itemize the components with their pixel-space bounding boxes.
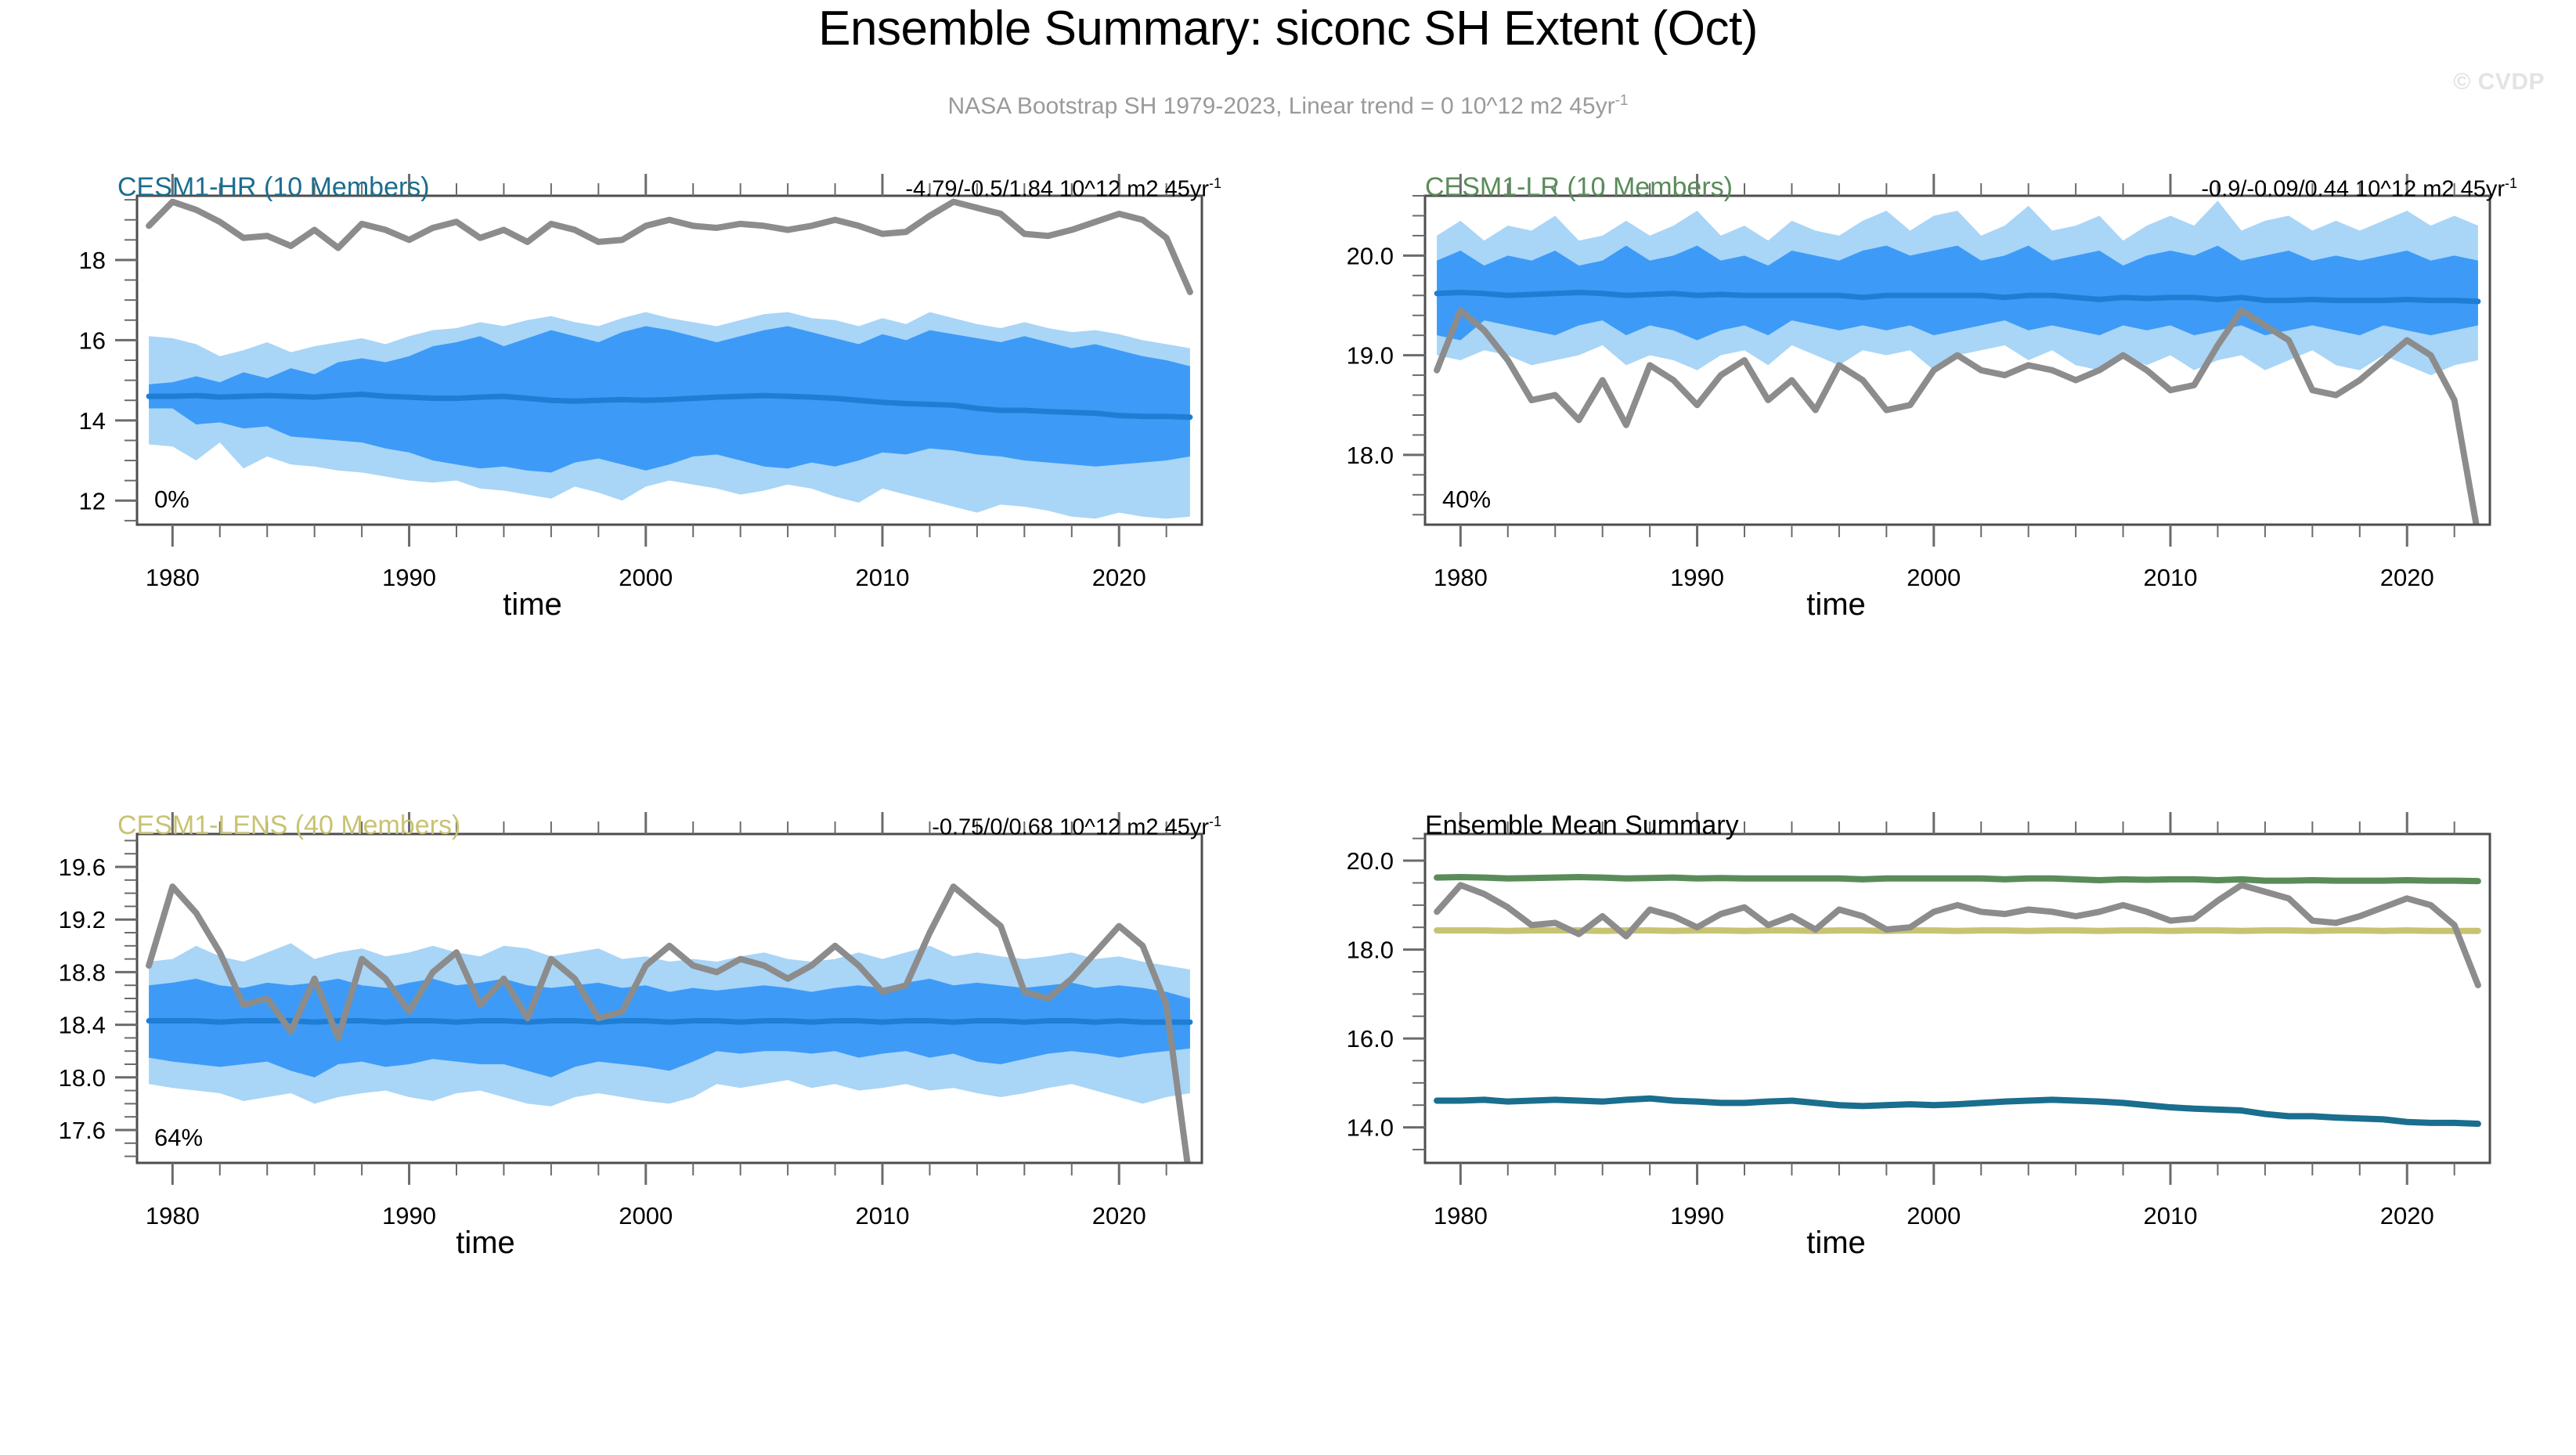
xtick-label: 2010: [2144, 1202, 2198, 1229]
xtick-label: 1980: [1434, 564, 1488, 591]
ensemble-mean-line: [149, 1021, 1190, 1023]
xtick-label: 1980: [146, 1202, 200, 1229]
summary-line-cesm1-hr: [1437, 1099, 2478, 1124]
ytick-label: 16.0: [1347, 1025, 1394, 1052]
panel-cesm1-hr: CESM1-HR (10 Members) -4.79/-0.5/1.84 10…: [0, 172, 1253, 658]
panel-stat-text: -0.75/0/0.68 10^12 m2 45yr: [932, 815, 1209, 840]
ytick-label: 20.0: [1347, 847, 1394, 875]
xtick-label: 2010: [856, 1202, 910, 1229]
panel-stat-text: -4.79/-0.5/1.84 10^12 m2 45yr: [905, 177, 1209, 202]
band-group: [149, 312, 1190, 519]
cvdp-watermark: © CVDP: [2453, 69, 2545, 96]
panel-ensemble-mean-summary: Ensemble Mean Summary 14.016.018.020.019…: [1288, 811, 2541, 1296]
xaxis-label-cesm1-hr: time: [376, 587, 689, 623]
band-group: [1437, 200, 2478, 375]
ytick-label: 18.0: [59, 1064, 106, 1092]
xtick-label: 2020: [1092, 564, 1146, 591]
plot-cesm1-lens: 17.618.018.418.819.219.61980199020002010…: [0, 811, 1253, 1296]
panel-cesm1-lr: CESM1-LR (10 Members) -0.9/-0.09/0.44 10…: [1288, 172, 2541, 658]
panel-stat-cesm1-lr: -0.9/-0.09/0.44 10^12 m2 45yr-1: [2071, 175, 2517, 203]
ytick-label: 18.0: [1347, 937, 1394, 964]
panel-title-cesm1-lr: CESM1-LR (10 Members): [1425, 172, 1733, 203]
panel-stat-exponent: -1: [1209, 175, 1221, 191]
ytick-label: 18.4: [59, 1012, 106, 1039]
ytick-label: 18.8: [59, 959, 106, 986]
ytick-label: 17.6: [59, 1117, 106, 1144]
obs-within-range-pct: 40%: [1442, 486, 1491, 513]
plot-cesm1-hr: 12141618198019902000201020200%: [0, 172, 1253, 658]
axis-group: 14.016.018.020.019801990200020102020: [1347, 812, 2490, 1229]
line-group: [1437, 877, 2478, 1124]
ytick-label: 18: [79, 247, 106, 274]
ytick-label: 19.6: [59, 854, 106, 881]
panel-title-cesm1-lens: CESM1-LENS (40 Members): [117, 811, 460, 841]
observation-line: [149, 202, 1190, 292]
chart-page: Ensemble Summary: siconc SH Extent (Oct)…: [0, 0, 2576, 1455]
xtick-label: 2010: [856, 564, 910, 591]
panel-stat-cesm1-lens: -0.75/0/0.68 10^12 m2 45yr-1: [783, 814, 1221, 841]
panel-title-cesm1-hr: CESM1-HR (10 Members): [117, 172, 430, 203]
plot-cesm1-lr: 18.019.020.01980199020002010202040%: [1288, 172, 2541, 658]
ytick-label: 14: [79, 407, 106, 435]
panel-stat-exponent: -1: [1209, 814, 1221, 829]
obs-within-range-pct: 64%: [154, 1124, 203, 1151]
summary-line-nasa-bootstrap-sh: [1437, 885, 2478, 985]
xtick-label: 1980: [146, 564, 200, 591]
panel-cesm1-lens: CESM1-LENS (40 Members) -0.75/0/0.68 10^…: [0, 811, 1253, 1296]
panel-stat-cesm1-hr: -4.79/-0.5/1.84 10^12 m2 45yr-1: [783, 175, 1221, 203]
page-subtitle: NASA Bootstrap SH 1979-2023, Linear tren…: [0, 92, 2576, 120]
panel-title-ensemble-mean-summary: Ensemble Mean Summary: [1425, 811, 1739, 841]
ytick-label: 19.0: [1347, 342, 1394, 370]
ytick-label: 18.0: [1347, 442, 1394, 469]
ytick-label: 12: [79, 487, 106, 514]
ytick-label: 16: [79, 327, 106, 354]
obs-within-range-pct: 0%: [154, 486, 189, 513]
ytick-label: 20.0: [1347, 242, 1394, 269]
xaxis-label-cesm1-lens: time: [329, 1226, 642, 1261]
plot-ensemble-mean-summary: 14.016.018.020.019801990200020102020: [1288, 811, 2541, 1296]
panel-stat-exponent: -1: [2505, 175, 2517, 191]
summary-line-cesm1-lens: [1437, 930, 2478, 931]
xaxis-label-ensemble-mean-summary: time: [1679, 1226, 1993, 1261]
page-subtitle-exponent: -1: [1615, 92, 1629, 109]
page-subtitle-main: NASA Bootstrap SH 1979-2023, Linear tren…: [947, 93, 1615, 119]
panel-stat-text: -0.9/-0.09/0.44 10^12 m2 45yr: [2201, 177, 2505, 202]
xtick-label: 2020: [2380, 564, 2434, 591]
ytick-label: 19.2: [59, 906, 106, 933]
xtick-label: 1980: [1434, 1202, 1488, 1229]
ytick-label: 14.0: [1347, 1114, 1394, 1142]
xtick-label: 2020: [1092, 1202, 1146, 1229]
xaxis-label-cesm1-lr: time: [1679, 587, 1993, 623]
xtick-label: 2020: [2380, 1202, 2434, 1229]
summary-line-cesm1-lr: [1437, 877, 2478, 881]
xtick-label: 2010: [2144, 564, 2198, 591]
page-title: Ensemble Summary: siconc SH Extent (Oct): [0, 5, 2576, 53]
